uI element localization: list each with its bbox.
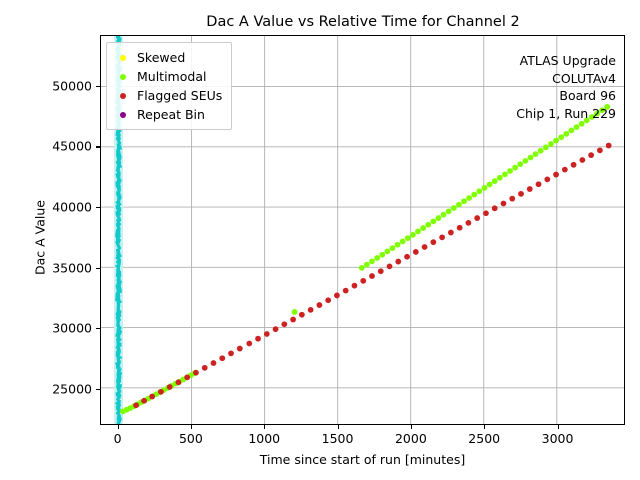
annotation-text: ATLAS UpgradeCOLUTAv4Board 96Chip 1, Run…	[516, 52, 616, 122]
series-flagged-seus	[133, 143, 611, 408]
x-tick-label: 500	[179, 431, 203, 446]
x-tick-mark	[484, 425, 485, 429]
legend-marker-icon	[114, 93, 132, 99]
legend-item-repeat-bin[interactable]: Repeat Bin	[114, 105, 222, 124]
y-tick-mark	[96, 207, 100, 208]
x-tick-label: 2000	[395, 431, 427, 446]
legend-item-flagged-seus[interactable]: Flagged SEUs	[114, 86, 222, 105]
annotation-line: Board 96	[516, 87, 616, 105]
annotation-line: Chip 1, Run 229	[516, 105, 616, 123]
x-tick-mark	[558, 425, 559, 429]
x-tick-mark	[264, 425, 265, 429]
legend-item-label: Repeat Bin	[137, 107, 205, 122]
x-tick-label: 3000	[542, 431, 574, 446]
y-tick-label: 40000	[4, 199, 92, 214]
y-tick-mark	[96, 268, 100, 269]
x-axis-label: Time since start of run [minutes]	[100, 452, 625, 467]
legend-item-label: Skewed	[137, 50, 185, 65]
x-tick-mark	[411, 425, 412, 429]
y-tick-mark	[96, 389, 100, 390]
x-tick-label: 0	[114, 431, 122, 446]
legend-marker-icon	[114, 74, 132, 80]
figure-canvas: Dac A Value vs Relative Time for Channel…	[0, 0, 640, 480]
y-axis-label: Dac A Value	[33, 138, 48, 338]
legend-item-label: Flagged SEUs	[137, 88, 222, 103]
series-multimodal	[120, 104, 610, 414]
y-tick-label: 25000	[4, 381, 92, 396]
x-tick-label: 1000	[248, 431, 280, 446]
legend-marker-icon	[114, 55, 132, 61]
y-tick-mark	[96, 328, 100, 329]
x-tick-label: 2500	[468, 431, 500, 446]
x-tick-mark	[191, 425, 192, 429]
annotation-line: ATLAS Upgrade	[516, 52, 616, 70]
x-tick-mark	[338, 425, 339, 429]
y-tick-label: 30000	[4, 321, 92, 336]
y-tick-label: 50000	[4, 78, 92, 93]
chart-title: Dac A Value vs Relative Time for Channel…	[100, 14, 626, 31]
legend-item-skewed[interactable]: Skewed	[114, 48, 222, 67]
y-tick-mark	[96, 146, 100, 147]
y-tick-label: 35000	[4, 260, 92, 275]
annotation-line: COLUTAv4	[516, 70, 616, 88]
y-tick-label: 45000	[4, 139, 92, 154]
y-tick-mark	[96, 86, 100, 87]
legend-marker-icon	[114, 112, 132, 118]
x-tick-mark	[118, 425, 119, 429]
legend-item-label: Multimodal	[137, 69, 206, 84]
x-tick-label: 1500	[322, 431, 354, 446]
legend-item-multimodal[interactable]: Multimodal	[114, 67, 222, 86]
legend-box[interactable]: SkewedMultimodalFlagged SEUsRepeat Bin	[106, 42, 232, 130]
